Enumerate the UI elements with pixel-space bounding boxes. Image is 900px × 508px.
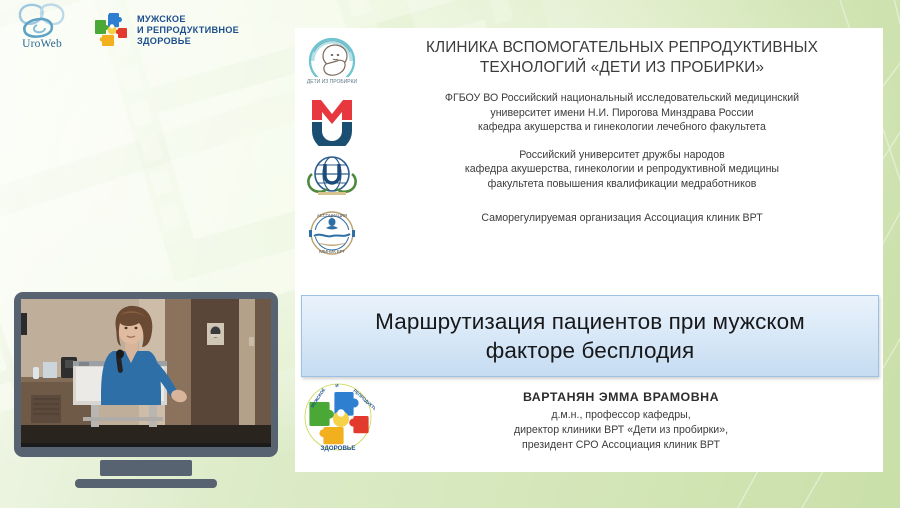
affiliation-2-line-3: факультета повышения квалификации медраб… [369,177,875,192]
affiliation-3-line-1: Саморегулируемая организация Ассоциация … [369,211,875,226]
presenter-title-line-3: президент СРО Ассоциация клиник ВРТ [369,438,873,453]
slide-title-line-1: Маршрутизация пациентов при мужском [375,307,805,336]
video-screen[interactable] [21,299,271,447]
slide-title: Маршрутизация пациентов при мужском факт… [375,307,805,365]
slide-header-text: КЛИНИКА ВСПОМОГАТЕЛЬНЫХ РЕПРОДУКТИВНЫХ Т… [369,38,875,225]
program-logo-line-1: МУЖСКОЕ [137,14,239,25]
monitor-bezel [14,292,278,457]
uroweb-logo[interactable]: UroWeb [10,3,74,57]
monitor-stand-base [75,479,217,488]
slide-org-title-line-2: ТЕХНОЛОГИЙ «ДЕТИ ИЗ ПРОБИРКИ» [369,58,875,78]
affiliation-1-line-2: университет имени Н.И. Пирогова Минздрав… [369,106,875,121]
uroweb-wordmark: UroWeb [22,38,62,50]
program-logo-line-3: ЗДОРОВЬЕ [137,36,239,47]
rudn-university-logo [304,152,360,202]
slide-affiliation-2: Российский университет дружбы народов ка… [369,148,875,192]
slide-title-banner: Маршрутизация пациентов при мужском факт… [301,295,879,377]
program-logo-line-2: И РЕПРОДУКТИВНОЕ [137,25,239,36]
program-logo[interactable]: МУЖСКОЕ И РЕПРОДУКТИВНОЕ ЗДОРОВЬЕ [90,10,239,50]
affiliation-2-line-1: Российский университет дружбы народов [369,148,875,163]
presenter-title-line-2: директор клиники ВРТ «Дети из пробирки», [369,423,873,438]
svg-text:КЛИНИК ВРТ: КЛИНИК ВРТ [319,249,345,254]
slide-org-title: КЛИНИКА ВСПОМОГАТЕЛЬНЫХ РЕПРОДУКТИВНЫХ Т… [369,38,875,78]
presenter-title-line-1: д.м.н., профессор кафедры, [369,408,873,423]
presentation-slide[interactable]: ДЕТИ ИЗ ПРОБИРКИ [295,28,883,472]
slide-presenter-block: ВАРТАНЯН ЭММА ВРАМОВНА д.м.н., профессор… [369,388,873,453]
speaker-video-still [21,299,271,443]
slide-org-title-line-1: КЛИНИКА ВСПОМОГАТЕЛЬНЫХ РЕПРОДУКТИВНЫХ [369,38,875,58]
slide-title-line-2: факторе бесплодия [375,336,805,365]
site-header: UroWeb МУЖСКОЕ И РЕПРОДУКТИВНОЕ ЗДОРОВЬЕ [0,0,239,60]
svg-text:ЗДОРОВЬЕ: ЗДОРОВЬЕ [321,445,356,452]
presenter-titles: д.м.н., профессор кафедры, директор клин… [369,408,873,453]
rnimu-pirogov-logo [305,96,359,146]
deti-iz-probirki-logo: ДЕТИ ИЗ ПРОБИРКИ [304,34,360,90]
affiliation-2-line-2: кафедра акушерства, гинекологии и репрод… [369,162,875,177]
slide-affiliation-3: Саморегулируемая организация Ассоциация … [369,211,875,226]
presenter-name: ВАРТАНЯН ЭММА ВРАМОВНА [369,388,873,406]
monitor-stand-neck [100,460,192,476]
webinar-slide-stage: UroWeb МУЖСКОЕ И РЕПРОДУКТИВНОЕ ЗДОРОВЬЕ [0,0,900,508]
uroweb-butterfly-icon [13,3,71,39]
slide-affiliation-1: ФГБОУ ВО Российский национальный исследо… [369,91,875,135]
slide-logo-column: ДЕТИ ИЗ ПРОБИРКИ [301,34,363,260]
puzzle-people-logo-slide: ЗДОРОВЬЕ МУЖСКОЕ И РЕПРОДУКТИВНОЕ [301,380,375,454]
program-logo-text: МУЖСКОЕ И РЕПРОДУКТИВНОЕ ЗДОРОВЬЕ [137,14,239,47]
puzzle-people-icon [90,10,130,50]
svg-text:И: И [335,383,338,388]
affiliation-1-line-3: кафедра акушерства и гинекологии лечебно… [369,120,875,135]
association-vrt-clinics-logo: АССОЦИАЦИЯ КЛИНИК ВРТ [304,208,360,260]
affiliation-1-line-1: ФГБОУ ВО Российский национальный исследо… [369,91,875,106]
speaker-video-monitor[interactable] [14,292,278,488]
svg-text:АССОЦИАЦИЯ: АССОЦИАЦИЯ [317,213,347,218]
svg-text:ДЕТИ ИЗ ПРОБИРКИ: ДЕТИ ИЗ ПРОБИРКИ [307,79,358,85]
